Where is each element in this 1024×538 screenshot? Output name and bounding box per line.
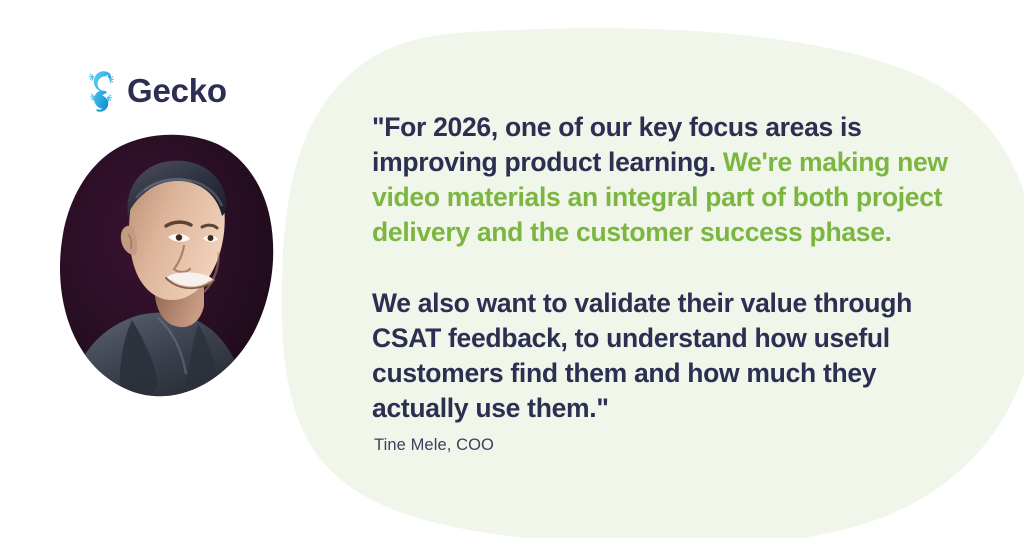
testimonial-slide: Gecko [0, 0, 1024, 538]
quote-attribution: Tine Mele, COO [374, 436, 494, 455]
quote-paragraph-2: We also want to validate their value thr… [372, 286, 950, 426]
brand-name: Gecko [127, 74, 227, 107]
quote-paragraph-1: "For 2026, one of our key focus areas is… [372, 110, 950, 250]
brand-lockup: Gecko [84, 64, 227, 116]
portrait-photo [58, 134, 276, 402]
gecko-lizard-icon [84, 66, 118, 114]
quote-block: "For 2026, one of our key focus areas is… [372, 110, 950, 426]
